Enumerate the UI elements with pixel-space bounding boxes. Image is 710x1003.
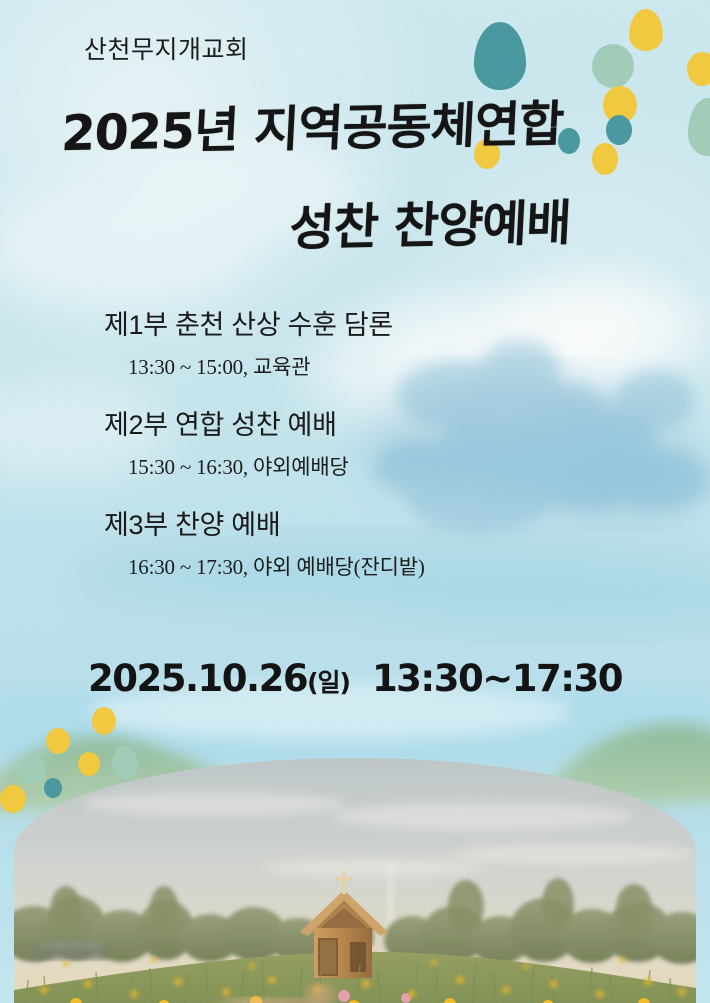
chapel-meadow-photo (14, 758, 696, 1003)
church-name: 산천무지개교회 (84, 30, 249, 66)
yellow-dot-6-shape (92, 707, 116, 735)
event-date: 2025.10.26 (88, 657, 307, 700)
yellow-dot-1-shape (629, 9, 663, 51)
teal-drop-large-shape (474, 22, 526, 90)
title-line-2: 성찬 찬양예배 (288, 181, 710, 260)
program-block-2: 제2부 연합 성찬 예배 15:30 ~ 16:30, 야외예배당 (0, 403, 710, 481)
chapel-meadow-illustration (14, 758, 696, 1003)
program-heading-1: 제1부 춘천 산상 수훈 담론 (0, 303, 710, 342)
event-time-range: 13:30~17:30 (372, 657, 622, 700)
date-time-banner: 2025.10.26 (일) 13:30~17:30 (0, 657, 710, 700)
program-schedule: 제1부 춘천 산상 수훈 담론 13:30 ~ 15:00, 교육관 제2부 연… (0, 303, 710, 603)
program-heading-3: 제3부 찬양 예배 (0, 503, 710, 542)
event-day-of-week: (일) (307, 663, 350, 699)
poster-title: 2025년 지역공동체연합 성찬 찬양예배 (0, 88, 710, 256)
program-detail-1: 13:30 ~ 15:00, 교육관 (0, 351, 710, 381)
program-block-3: 제3부 찬양 예배 16:30 ~ 17:30, 야외 예배당(잔디밭) (0, 503, 710, 581)
poster-canvas: 산천무지개교회 2025년 지역공동체연합 성찬 찬양예배 제1부 춘천 산상 … (0, 0, 710, 1003)
program-detail-3: 16:30 ~ 17:30, 야외 예배당(잔디밭) (0, 551, 710, 581)
program-heading-2: 제2부 연합 성찬 예배 (0, 403, 710, 442)
sage-dot-1-shape (592, 44, 634, 88)
title-line-1: 2025년 지역공동체연합 (60, 82, 710, 165)
program-block-1: 제1부 춘천 산상 수훈 담론 13:30 ~ 15:00, 교육관 (0, 303, 710, 381)
program-detail-2: 15:30 ~ 16:30, 야외예배당 (0, 451, 710, 481)
yellow-dot-7-shape (46, 728, 70, 754)
